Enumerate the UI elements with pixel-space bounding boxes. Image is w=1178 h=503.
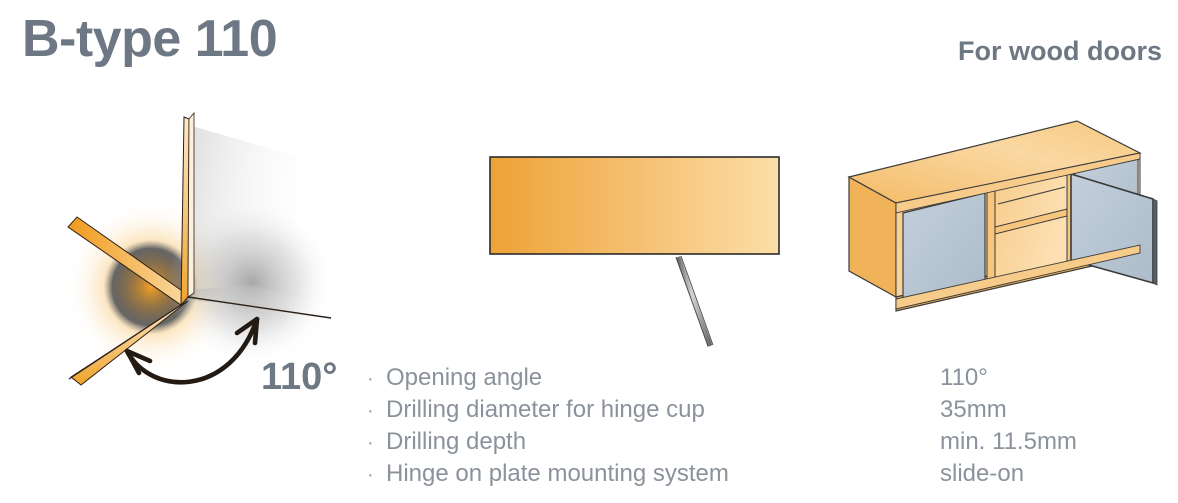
- spec-label-list: · Opening angle · Drilling diameter for …: [364, 364, 924, 492]
- page-root: B-type 110 For wood doors: [0, 0, 1178, 503]
- spec-value-opening-angle: 110°: [940, 364, 1178, 396]
- bullet-icon: ·: [364, 369, 386, 389]
- cabinet-vertical-divider: [987, 190, 995, 281]
- door-opening-angle-diagram: [55, 105, 355, 395]
- upright-panel-side: [188, 113, 194, 297]
- bullet-icon: ·: [364, 401, 386, 421]
- cabinet-side-plane: [188, 125, 327, 311]
- opening-angle-badge: 110°: [261, 358, 338, 396]
- door-panel-rect: [490, 157, 779, 254]
- spec-value-mounting-system: slide-on: [940, 460, 1178, 492]
- hinge-arm-rod: [676, 256, 713, 346]
- wood-door-panel-diagram: [465, 135, 815, 375]
- spec-value-drilling-depth: min. 11.5mm: [940, 428, 1178, 460]
- subtitle-for-wood-doors: For wood doors: [958, 36, 1162, 67]
- spec-row-drilling-depth: · Drilling depth: [364, 428, 924, 460]
- spec-label: Hinge on plate mounting system: [386, 460, 729, 488]
- spec-label: Opening angle: [386, 364, 542, 392]
- spec-row-drilling-diameter: · Drilling diameter for hinge cup: [364, 396, 924, 428]
- spec-row-opening-angle: · Opening angle: [364, 364, 924, 396]
- bullet-icon: ·: [364, 465, 386, 485]
- spec-value-list: 110° 35mm min. 11.5mm slide-on: [940, 364, 1178, 492]
- spec-label: Drilling diameter for hinge cup: [386, 396, 705, 424]
- bullet-icon: ·: [364, 433, 386, 453]
- cabinet-isometric-diagram: [835, 115, 1178, 345]
- page-title: B-type 110: [22, 12, 277, 67]
- spec-row-mounting-system: · Hinge on plate mounting system: [364, 460, 924, 492]
- cabinet-right-door-edge: [1153, 199, 1157, 285]
- spec-value-drilling-diameter: 35mm: [940, 396, 1178, 428]
- spec-label: Drilling depth: [386, 428, 526, 456]
